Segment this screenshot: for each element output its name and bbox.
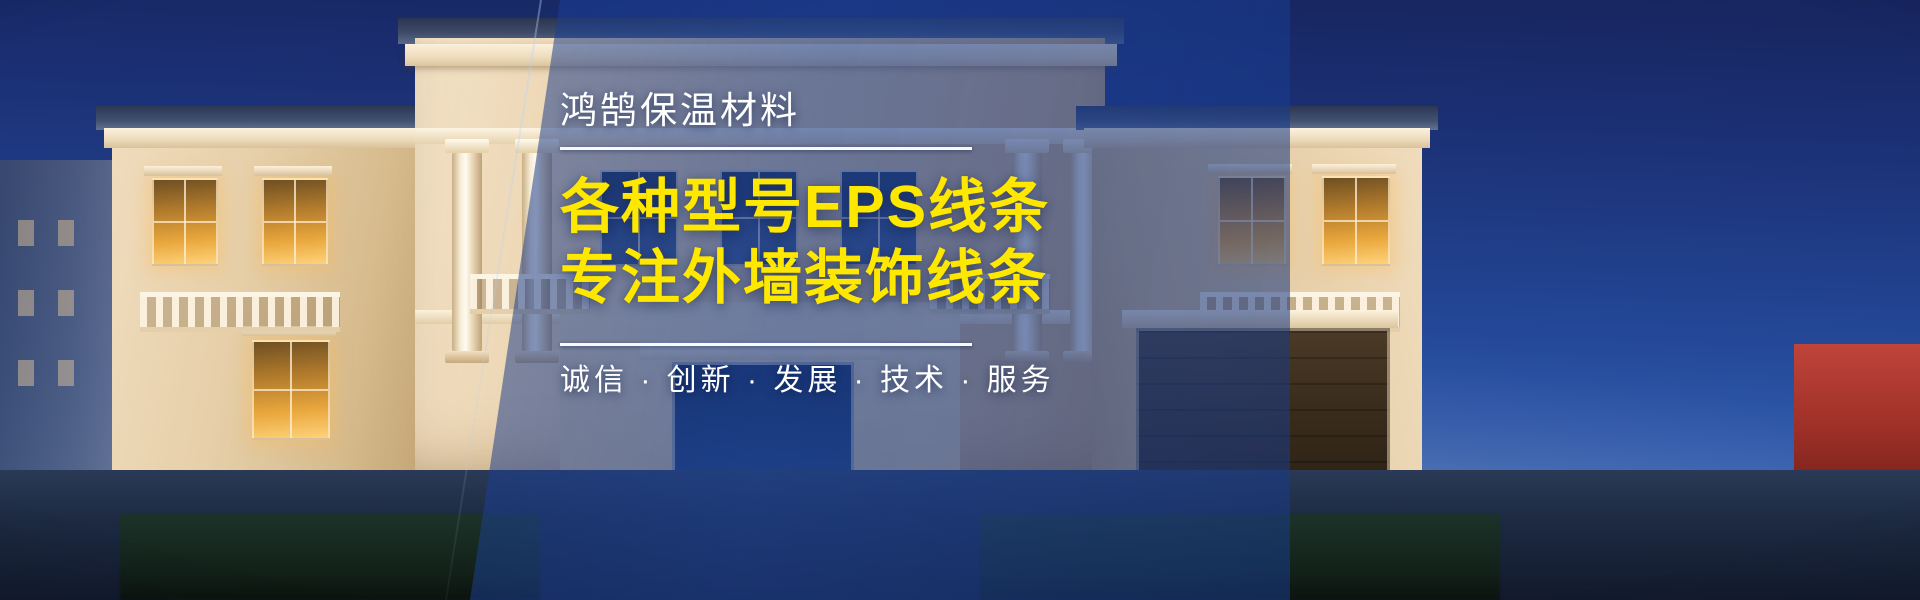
headline-line-2: 专注外墙装饰线条	[560, 243, 1260, 314]
headline-line-1: 各种型号EPS线条	[560, 172, 1260, 243]
column-1	[452, 152, 482, 352]
window-hood	[1312, 164, 1396, 174]
window-left-lower-1	[252, 340, 330, 440]
divider-top	[560, 147, 972, 150]
window-left-upper-1	[152, 178, 218, 266]
tagline: 诚信 · 创新 · 发展 · 技术 · 服务	[560, 364, 1260, 397]
distant-building	[0, 160, 120, 500]
company-name: 鸿鹄保温材料	[560, 92, 1260, 131]
window-hood	[254, 166, 332, 176]
banner-copy: 鸿鹄保温材料 各种型号EPS线条 专注外墙装饰线条 诚信 · 创新 · 发展 ·…	[560, 92, 1260, 397]
divider-bottom	[560, 343, 972, 346]
balustrade-left	[140, 292, 340, 332]
red-container	[1794, 344, 1920, 484]
window-hood	[144, 166, 222, 176]
left-wing-cornice	[104, 128, 436, 148]
window-right-upper-2	[1322, 176, 1390, 266]
window-left-upper-2	[262, 178, 328, 266]
left-wing-roof	[96, 106, 444, 130]
hero-banner: 鸿鹄保温材料 各种型号EPS线条 专注外墙装饰线条 诚信 · 创新 · 发展 ·…	[0, 0, 1920, 600]
